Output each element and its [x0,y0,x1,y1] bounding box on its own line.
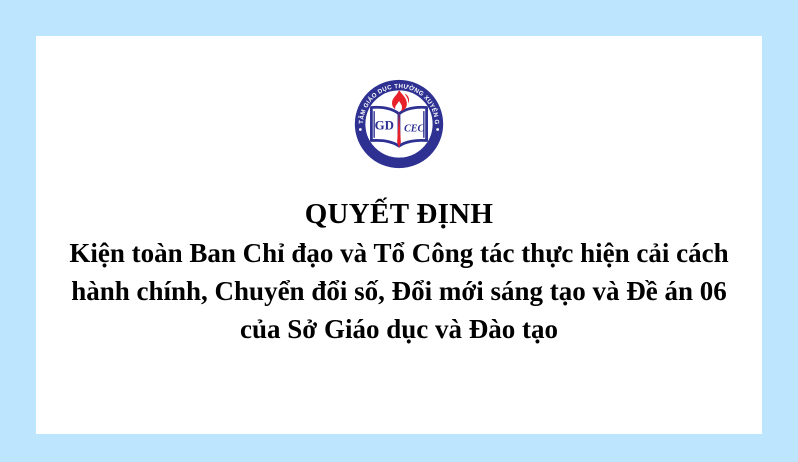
subtitle-line-1: Kiện toàn Ban Chỉ đạo và Tổ Công tác thự… [46,234,752,272]
logo-letters-gd: GD [375,119,394,133]
subtitle-line-3: của Sở Giáo dục và Đào tạo [46,310,752,348]
document-subtitle: Kiện toàn Ban Chỉ đạo và Tổ Công tác thự… [44,234,754,348]
subtitle-line-2: hành chính, Chuyển đổi số, Đổi mới sáng … [46,272,752,310]
page-border-frame: TRUNG TÂM GIÁO DỤC THƯỜNG XUYÊN GIA ĐỊNH… [0,0,798,462]
logo-ring-dot-left [359,128,362,131]
school-emblem-svg: TRUNG TÂM GIÁO DỤC THƯỜNG XUYÊN GIA ĐỊNH… [353,78,445,170]
page-title: QUYẾT ĐỊNH [44,194,754,234]
document-text-block: QUYẾT ĐỊNH Kiện toàn Ban Chỉ đạo và Tổ C… [36,194,762,348]
document-card: TRUNG TÂM GIÁO DỤC THƯỜNG XUYÊN GIA ĐỊNH… [36,36,762,434]
school-emblem-logo: TRUNG TÂM GIÁO DỤC THƯỜNG XUYÊN GIA ĐỊNH… [353,78,445,170]
logo-ring-dot-right [436,128,439,131]
logo-letters-cec: CEC [404,123,424,134]
